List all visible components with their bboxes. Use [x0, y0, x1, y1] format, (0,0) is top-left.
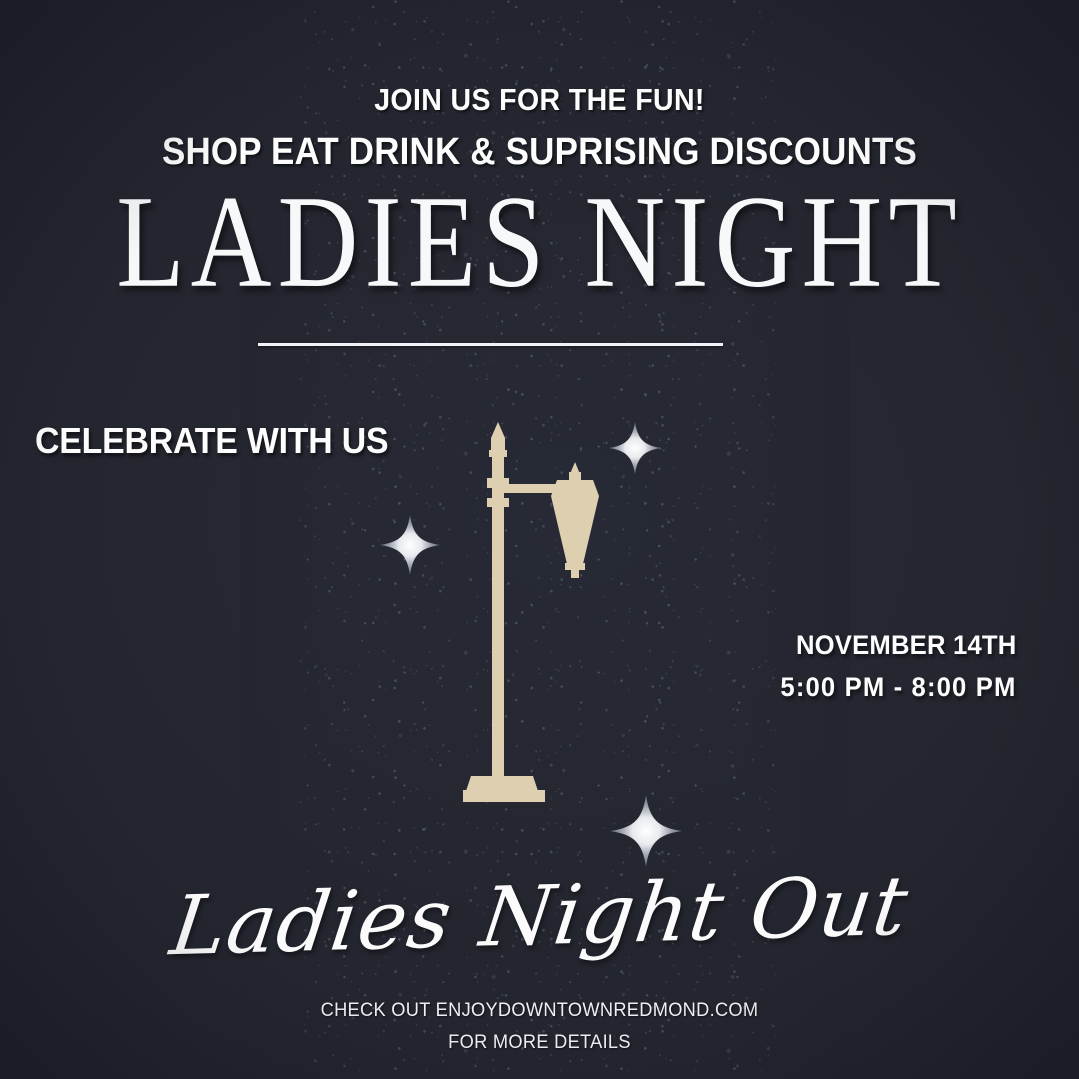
event-details-block: NOVEMBER 14TH 5:00 PM - 8:00 PM — [768, 632, 1016, 701]
celebrate-label: CELEBRATE WITH US — [35, 423, 388, 459]
event-time: 5:00 PM - 8:00 PM — [780, 674, 1016, 701]
event-date: NOVEMBER 14TH — [780, 632, 1016, 659]
divider-rule — [258, 343, 723, 346]
footer-website-line[interactable]: CHECK OUT ENJOYDOWNTOWNREDMOND.COM — [22, 1001, 1058, 1020]
kicker-line-2: SHOP EAT DRINK & SUPRISING DISCOUNTS — [43, 133, 1036, 171]
ladies-night-poster: JOIN US FOR THE FUN! SHOP EAT DRINK & SU… — [0, 0, 1079, 1079]
page-title: LADIES NIGHT — [0, 176, 1079, 308]
footer-block: CHECK OUT ENJOYDOWNTOWNREDMOND.COM FOR M… — [0, 1001, 1079, 1052]
kicker-block: JOIN US FOR THE FUN! SHOP EAT DRINK & SU… — [0, 84, 1079, 171]
footer-details-line: FOR MORE DETAILS — [22, 1033, 1058, 1052]
script-word-2: Night Out — [475, 859, 913, 966]
script-word-1: Ladies — [165, 871, 457, 974]
kicker-line-1: JOIN US FOR THE FUN! — [43, 84, 1036, 115]
street-lamp-icon — [437, 420, 617, 825]
